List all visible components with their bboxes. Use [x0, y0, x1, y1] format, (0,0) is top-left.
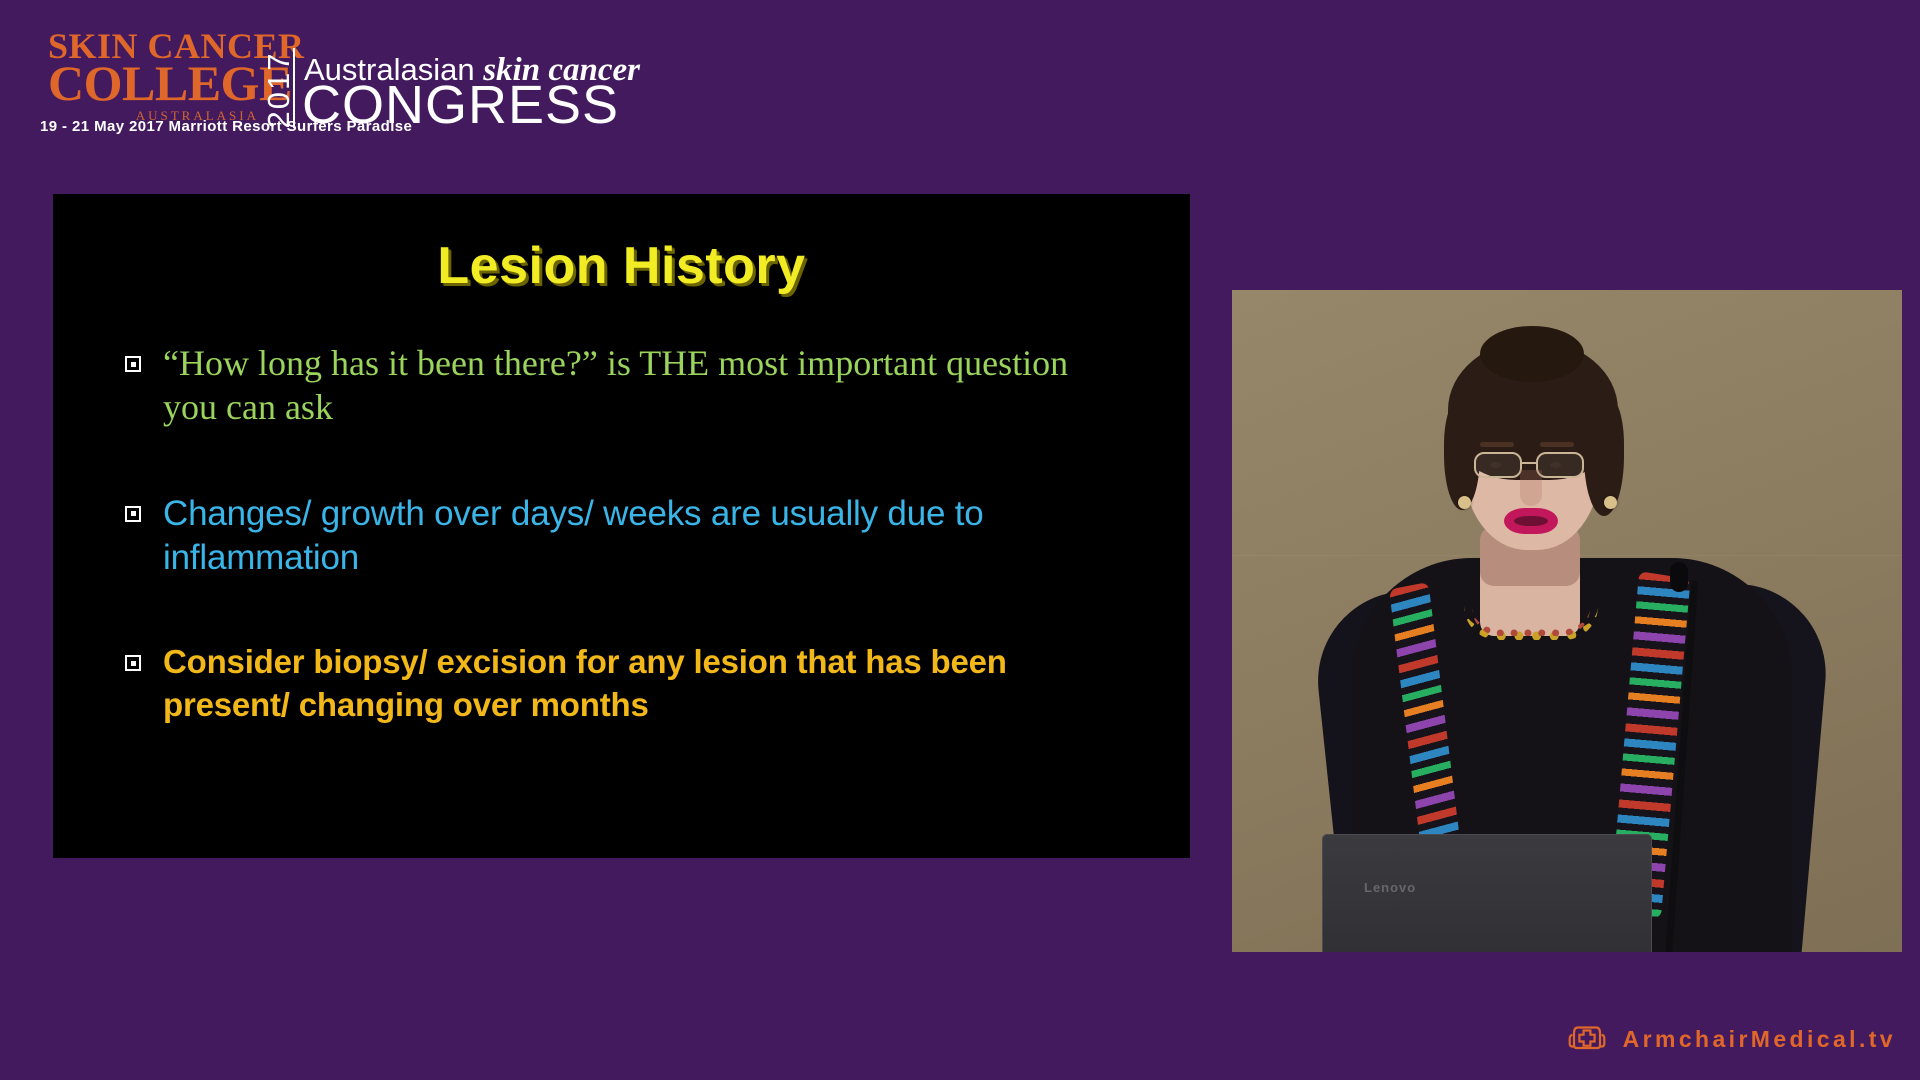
- header-divider: [293, 48, 295, 128]
- presentation-video-frame: SKIN CANCER COLLEGE AUSTRALASIA 2017 Aus…: [0, 0, 1920, 1080]
- speaker-nose: [1520, 470, 1542, 506]
- bullet-text-2: Changes/ growth over days/ weeks are usu…: [163, 492, 1125, 580]
- conference-branding-header: SKIN CANCER COLLEGE AUSTRALASIA 2017 Aus…: [40, 24, 740, 174]
- logo-line-college: COLLEGE: [48, 58, 263, 108]
- laptop-brand-label: Lenovo: [1364, 880, 1416, 895]
- watermark-text: ArmchairMedical.tv: [1623, 1026, 1896, 1053]
- speaker-eyebrow-left: [1480, 442, 1514, 447]
- square-bullet-icon: [125, 506, 141, 522]
- speaker-eye-left: [1490, 462, 1501, 468]
- speaker-video-feed: Lenovo: [1232, 290, 1902, 952]
- earring-left: [1458, 496, 1471, 509]
- bullet-text-3: Consider biopsy/ excision for any lesion…: [163, 641, 1125, 727]
- speaker-eyebrow-right: [1540, 442, 1574, 447]
- speaker-necklace-inner: [1472, 608, 1590, 636]
- speaker-hair-bun: [1480, 326, 1584, 382]
- microphone-head: [1670, 562, 1688, 592]
- event-dates-venue: 19 - 21 May 2017 Marriott Resort Surfers…: [40, 118, 412, 135]
- earring-right: [1604, 496, 1617, 509]
- speaker-hair-right: [1584, 396, 1624, 516]
- square-bullet-icon: [125, 655, 141, 671]
- list-item: “How long has it been there?” is THE mos…: [125, 342, 1125, 430]
- square-bullet-icon: [125, 356, 141, 372]
- speaker-hair-left: [1444, 400, 1480, 510]
- presentation-slide: Lesion History “How long has it been the…: [53, 194, 1190, 858]
- list-item: Changes/ growth over days/ weeks are usu…: [125, 492, 1125, 580]
- armchair-medical-cross-icon: [1567, 1017, 1607, 1062]
- glasses-bridge: [1522, 462, 1536, 464]
- slide-title: Lesion History: [53, 236, 1190, 296]
- list-item: Consider biopsy/ excision for any lesion…: [125, 641, 1125, 727]
- armchair-medical-watermark: ArmchairMedical.tv: [1567, 1017, 1896, 1062]
- slide-bullet-list: “How long has it been there?” is THE mos…: [125, 342, 1125, 777]
- bullet-text-1: “How long has it been there?” is THE mos…: [163, 342, 1125, 430]
- skin-cancer-college-logo: SKIN CANCER COLLEGE AUSTRALASIA: [48, 28, 263, 122]
- speaker-eye-right: [1550, 462, 1561, 468]
- speaker-mouth-inner: [1514, 516, 1548, 526]
